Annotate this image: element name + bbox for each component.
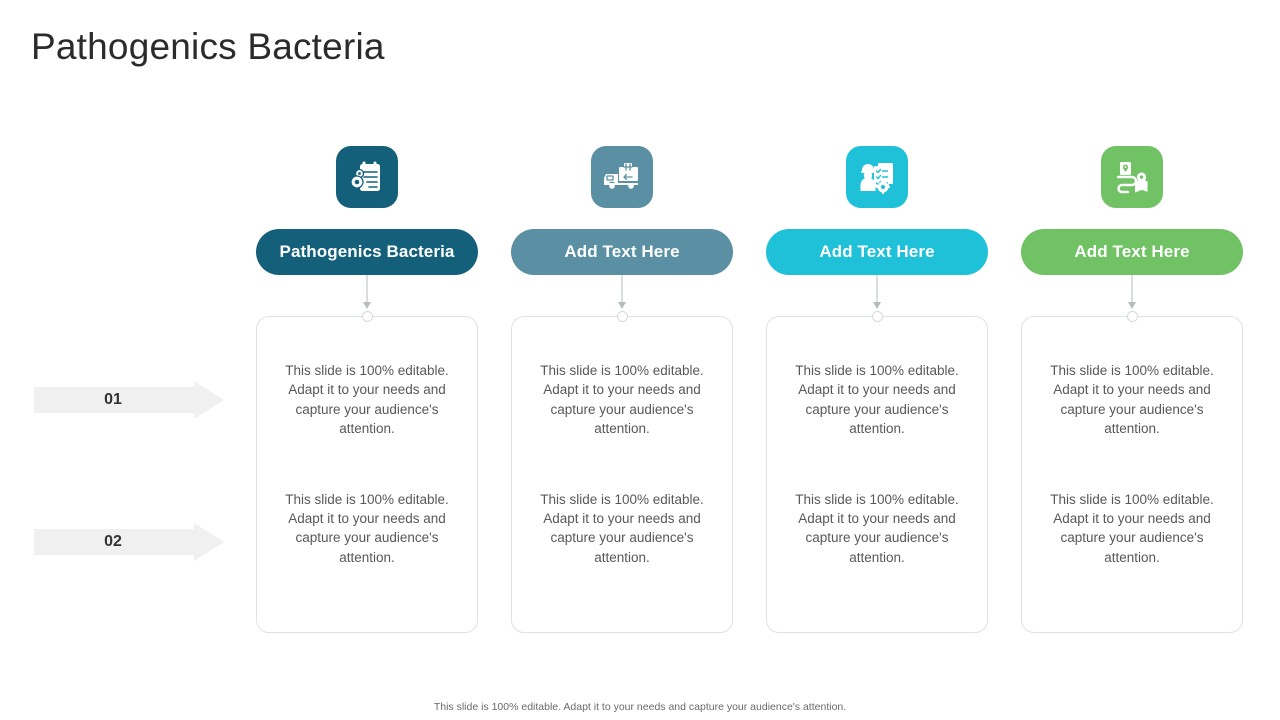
card-paragraph: This slide is 100% editable. Adapt it to…: [533, 361, 711, 439]
arrow-shape: [34, 523, 224, 561]
card-paragraph: This slide is 100% editable. Adapt it to…: [533, 490, 711, 568]
column-label-pill[interactable]: Add Text Here: [766, 229, 988, 275]
connector-line: [367, 275, 368, 305]
step-number-label: 01: [104, 391, 122, 409]
connector-arrowhead-icon: [1128, 302, 1136, 309]
connector-line: [622, 275, 623, 305]
connector-arrow: [1021, 275, 1243, 316]
route-map-pin-icon: [1101, 146, 1163, 208]
connector-line: [1132, 275, 1133, 305]
column-3: Add Text Here This slide is 100% editabl…: [766, 146, 988, 633]
step-arrow-01: 01: [34, 381, 224, 419]
step-arrow-02: 02: [34, 523, 224, 561]
text-card: This slide is 100% editable. Adapt it to…: [766, 316, 988, 633]
column-label-text: Pathogenics Bacteria: [280, 242, 455, 262]
column-1: Pathogenics Bacteria This slide is 100% …: [256, 146, 478, 633]
column-label-text: Add Text Here: [1074, 242, 1189, 262]
connector-node: [872, 311, 883, 322]
connector-arrow: [766, 275, 988, 316]
arrow-shape: [34, 381, 224, 419]
clipboard-gear-icon: [336, 146, 398, 208]
column-4: Add Text Here This slide is 100% editabl…: [1021, 146, 1243, 633]
text-card: This slide is 100% editable. Adapt it to…: [511, 316, 733, 633]
text-card: This slide is 100% editable. Adapt it to…: [256, 316, 478, 633]
connector-node: [362, 311, 373, 322]
connector-arrowhead-icon: [873, 302, 881, 309]
text-card: This slide is 100% editable. Adapt it to…: [1021, 316, 1243, 633]
column-label-pill[interactable]: Add Text Here: [511, 229, 733, 275]
connector-node: [617, 311, 628, 322]
card-paragraph: This slide is 100% editable. Adapt it to…: [1043, 490, 1221, 568]
column-2: Add Text Here This slide is 100% editabl…: [511, 146, 733, 633]
column-label-text: Add Text Here: [819, 242, 934, 262]
column-label-pill[interactable]: Pathogenics Bacteria: [256, 229, 478, 275]
footer-note: This slide is 100% editable. Adapt it to…: [0, 701, 1280, 713]
connector-arrow: [256, 275, 478, 316]
step-number-label: 02: [104, 533, 122, 551]
card-paragraph: This slide is 100% editable. Adapt it to…: [278, 361, 456, 439]
connector-node: [1127, 311, 1138, 322]
column-label-text: Add Text Here: [564, 242, 679, 262]
card-paragraph: This slide is 100% editable. Adapt it to…: [278, 490, 456, 568]
page-title: Pathogenics Bacteria: [31, 26, 385, 68]
card-paragraph: This slide is 100% editable. Adapt it to…: [1043, 361, 1221, 439]
connector-arrowhead-icon: [363, 302, 371, 309]
connector-arrowhead-icon: [618, 302, 626, 309]
delivery-truck-icon: [591, 146, 653, 208]
worker-checklist-icon: [846, 146, 908, 208]
card-paragraph: This slide is 100% editable. Adapt it to…: [788, 361, 966, 439]
connector-arrow: [511, 275, 733, 316]
column-label-pill[interactable]: Add Text Here: [1021, 229, 1243, 275]
card-paragraph: This slide is 100% editable. Adapt it to…: [788, 490, 966, 568]
connector-line: [877, 275, 878, 305]
